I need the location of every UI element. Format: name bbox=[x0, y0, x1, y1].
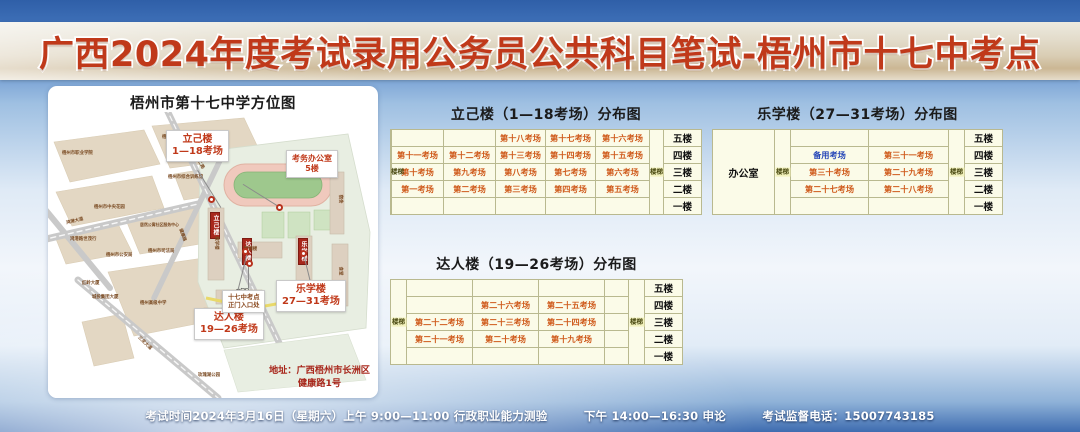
daren-block-title: 达人楼（19—26考场）分布图 bbox=[390, 254, 683, 274]
kaowu-callout-line1: 考务办公室 bbox=[292, 154, 332, 164]
cell: 第二十九考场 bbox=[869, 164, 949, 181]
kaowu-callout-line2: 5楼 bbox=[292, 164, 332, 174]
cell bbox=[605, 314, 629, 331]
stair-left: 楼梯 bbox=[775, 130, 791, 215]
daren-block: 达人楼（19—26考场）分布图 楼梯 楼梯 五楼 第二十六考场 第二十五考场 四… bbox=[390, 254, 683, 365]
campus-map-panel: 梧州市第十七中学方位图 bbox=[48, 86, 378, 398]
gate-callout: 十七中考点 正门入口处 bbox=[222, 290, 265, 313]
place-label-zhiye: 梧州市职业学院 bbox=[62, 150, 93, 156]
place-label-xunlian: 梧州市综合训练馆 bbox=[168, 174, 203, 180]
map-address-line1: 地址：广西梧州市长洲区 bbox=[269, 365, 370, 377]
liji-block: 立己楼（1—18考场）分布图 楼梯 第十八考场 第十七考场 第十六考场 楼梯 五… bbox=[390, 104, 702, 215]
cell: 第六考场 bbox=[596, 164, 650, 181]
yuexue-callout-line1: 乐学楼 bbox=[282, 284, 340, 296]
cell: 第二十四考场 bbox=[539, 314, 605, 331]
footer-bar: 考试时间2024年3月16日（星期六）上午 9:00—11:00 行政职业能力测… bbox=[0, 408, 1080, 424]
place-label-sushe: 宿舍 bbox=[337, 195, 343, 204]
cell: 第十一考场 bbox=[392, 147, 444, 164]
floor-label: 三楼 bbox=[645, 314, 683, 331]
daren-callout-line1: 达人楼 bbox=[200, 312, 258, 324]
leader-gate bbox=[248, 264, 249, 288]
liji-table: 楼梯 第十八考场 第十七考场 第十六考场 楼梯 五楼 第十一考场 第十二考场 第… bbox=[390, 129, 702, 215]
stair-left-label: 楼梯 bbox=[391, 318, 406, 327]
cell bbox=[605, 297, 629, 314]
cell bbox=[444, 130, 496, 147]
kaowu-callout: 考务办公室 5楼 bbox=[286, 150, 338, 178]
floor-label: 三楼 bbox=[965, 164, 1003, 181]
table-row: 楼梯 楼梯 五楼 bbox=[391, 280, 683, 297]
cell: 第九考场 bbox=[444, 164, 496, 181]
floor-label: 四楼 bbox=[965, 147, 1003, 164]
daren-table: 楼梯 楼梯 五楼 第二十六考场 第二十五考场 四楼 第二十二考场 第二十三考场 … bbox=[390, 279, 683, 365]
cell: 第二十六考场 bbox=[473, 297, 539, 314]
yuexue-block-title: 乐学楼（27—31考场）分布图 bbox=[712, 104, 1003, 124]
liji-callout-line1: 立己楼 bbox=[172, 134, 223, 146]
cell: 第二十三考场 bbox=[473, 314, 539, 331]
cell: 第二十二考场 bbox=[407, 314, 473, 331]
table-row: 办公室 楼梯 楼梯 五楼 bbox=[713, 130, 1003, 147]
cell bbox=[444, 198, 496, 215]
cell: 第二考场 bbox=[444, 181, 496, 198]
floor-label: 二楼 bbox=[664, 181, 702, 198]
cell bbox=[791, 198, 869, 215]
cell: 第十七考场 bbox=[546, 130, 596, 147]
map-pin-liji bbox=[208, 196, 215, 203]
place-label-hongling: 红岭大厦 bbox=[82, 280, 100, 286]
map-title: 梧州市第十七中学方位图 bbox=[48, 92, 378, 113]
cell: 第一考场 bbox=[392, 181, 444, 198]
cell bbox=[539, 280, 605, 297]
map-address-line2: 健康路1号 bbox=[269, 378, 370, 390]
cell: 第十三考场 bbox=[496, 147, 546, 164]
stair-right: 楼梯 bbox=[949, 130, 965, 215]
yuexue-callout: 乐学楼 27—31考场 bbox=[276, 280, 346, 312]
place-label-sifa: 梧州市司法局 bbox=[148, 248, 174, 254]
cell: 第二十八考场 bbox=[869, 181, 949, 198]
office-cell: 办公室 bbox=[713, 130, 775, 215]
place-label-gaozhong: 梧州高级中学 bbox=[140, 300, 166, 306]
floor-label: 五楼 bbox=[965, 130, 1003, 147]
liji-callout: 立己楼 1—18考场 bbox=[166, 130, 229, 162]
gate-callout-line1: 十七中考点 bbox=[228, 294, 259, 302]
floor-label: 一楼 bbox=[965, 198, 1003, 215]
floor-label: 五楼 bbox=[664, 130, 702, 147]
floor-label: 五楼 bbox=[645, 280, 683, 297]
cell: 第三十一考场 bbox=[869, 147, 949, 164]
map-address: 地址：广西梧州市长洲区 健康路1号 bbox=[269, 365, 370, 390]
map-pin-daren bbox=[242, 248, 249, 255]
cell: 第十二考场 bbox=[444, 147, 496, 164]
floor-label: 一楼 bbox=[664, 198, 702, 215]
cell bbox=[473, 280, 539, 297]
yuexue-table: 办公室 楼梯 楼梯 五楼 备用考场 第三十一考场 四楼 第三十考场 第二十九考场… bbox=[712, 129, 1003, 215]
stair-right-label: 楼梯 bbox=[629, 318, 644, 327]
cell bbox=[869, 198, 949, 215]
place-label-shitang: 食堂 bbox=[337, 267, 343, 276]
map-pin-gate bbox=[246, 260, 253, 267]
cell bbox=[539, 348, 605, 365]
title-banner: 广西2024年度考试录用公务员公共科目笔试-梧州市十七中考点 bbox=[0, 22, 1080, 80]
bldg-tag-liji: 立己楼 bbox=[210, 212, 220, 239]
cell bbox=[392, 130, 444, 147]
footer-exam-time: 考试时间2024年3月16日（星期六）上午 9:00—11:00 行政职业能力测… bbox=[145, 409, 547, 423]
cell: 第四考场 bbox=[546, 181, 596, 198]
yuexue-block: 乐学楼（27—31考场）分布图 办公室 楼梯 楼梯 五楼 备用考场 第三十一考场… bbox=[712, 104, 1003, 215]
floor-label: 一楼 bbox=[645, 348, 683, 365]
floor-label: 二楼 bbox=[965, 181, 1003, 198]
map-pin-yuexue bbox=[300, 250, 307, 257]
place-label-chengtou: 城投集团大厦 bbox=[92, 294, 118, 300]
stair-left-label: 楼梯 bbox=[775, 168, 790, 177]
cell: 第十五考场 bbox=[596, 147, 650, 164]
cell: 第二十一考场 bbox=[407, 331, 473, 348]
cell bbox=[473, 348, 539, 365]
place-label-jiaoxue: 教学楼 bbox=[214, 236, 220, 249]
cell bbox=[596, 198, 650, 215]
cell: 第十八考场 bbox=[496, 130, 546, 147]
stair-left: 楼梯 bbox=[391, 280, 407, 365]
floor-label: 二楼 bbox=[645, 331, 683, 348]
cell bbox=[791, 130, 869, 147]
cell bbox=[546, 198, 596, 215]
floor-label: 三楼 bbox=[664, 164, 702, 181]
floor-label: 四楼 bbox=[664, 147, 702, 164]
cell bbox=[496, 198, 546, 215]
map-canvas: 立己楼 达人楼 乐学楼 梧州市职业学院 梧州市体育南中心 梧州市综合训练馆 梧州… bbox=[48, 112, 378, 398]
cell: 第三考场 bbox=[496, 181, 546, 198]
cell: 第十九考场 bbox=[539, 331, 605, 348]
floor-label: 四楼 bbox=[645, 297, 683, 314]
table-row: 楼梯 第十八考场 第十七考场 第十六考场 楼梯 五楼 bbox=[391, 130, 702, 147]
cell: 第七考场 bbox=[546, 164, 596, 181]
place-label-shimao: 鸿港路世茂行 bbox=[70, 236, 96, 242]
page-title: 广西2024年度考试录用公务员公共科目笔试-梧州市十七中考点 bbox=[39, 26, 1041, 77]
place-label-juran: 居然公寓社区服务中心 bbox=[140, 222, 179, 228]
yuexue-callout-line2: 27—31考场 bbox=[282, 296, 340, 308]
footer-hotline: 考试监督电话：15007743185 bbox=[762, 409, 934, 423]
stair-left: 楼梯 bbox=[391, 130, 392, 215]
cell bbox=[407, 348, 473, 365]
cell bbox=[605, 280, 629, 297]
footer-afternoon: 下午 14:00—16:30 申论 bbox=[584, 409, 726, 423]
cell: 第十四考场 bbox=[546, 147, 596, 164]
map-pin-kaowu bbox=[276, 204, 283, 211]
cell bbox=[407, 280, 473, 297]
stair-right-label: 楼梯 bbox=[650, 168, 663, 177]
cell: 第二十五考场 bbox=[539, 297, 605, 314]
stair-right: 楼梯 bbox=[629, 280, 645, 365]
cell: 第八考场 bbox=[496, 164, 546, 181]
stair-right: 楼梯 bbox=[650, 130, 664, 215]
liji-callout-line2: 1—18考场 bbox=[172, 146, 223, 158]
cell: 第五考场 bbox=[596, 181, 650, 198]
cell: 第二十七考场 bbox=[791, 181, 869, 198]
cell bbox=[605, 331, 629, 348]
cell bbox=[407, 297, 473, 314]
place-label-meigui: 玫瑰湖公园 bbox=[198, 372, 220, 378]
liji-block-title: 立己楼（1—18考场）分布图 bbox=[390, 104, 702, 124]
daren-callout-line2: 19—26考场 bbox=[200, 324, 258, 336]
cell bbox=[869, 130, 949, 147]
place-label-zhongyang: 梧州市中央花园 bbox=[94, 204, 125, 210]
cell: 第三十考场 bbox=[791, 164, 869, 181]
gate-callout-line2: 正门入口处 bbox=[228, 302, 259, 310]
cell: 第十六考场 bbox=[596, 130, 650, 147]
cell-spare: 备用考场 bbox=[791, 147, 869, 164]
cell bbox=[605, 348, 629, 365]
cell bbox=[392, 198, 444, 215]
stair-right-label: 楼梯 bbox=[949, 168, 964, 177]
place-label-gongan: 梧州市公安局 bbox=[106, 252, 132, 258]
cell: 第二十考场 bbox=[473, 331, 539, 348]
